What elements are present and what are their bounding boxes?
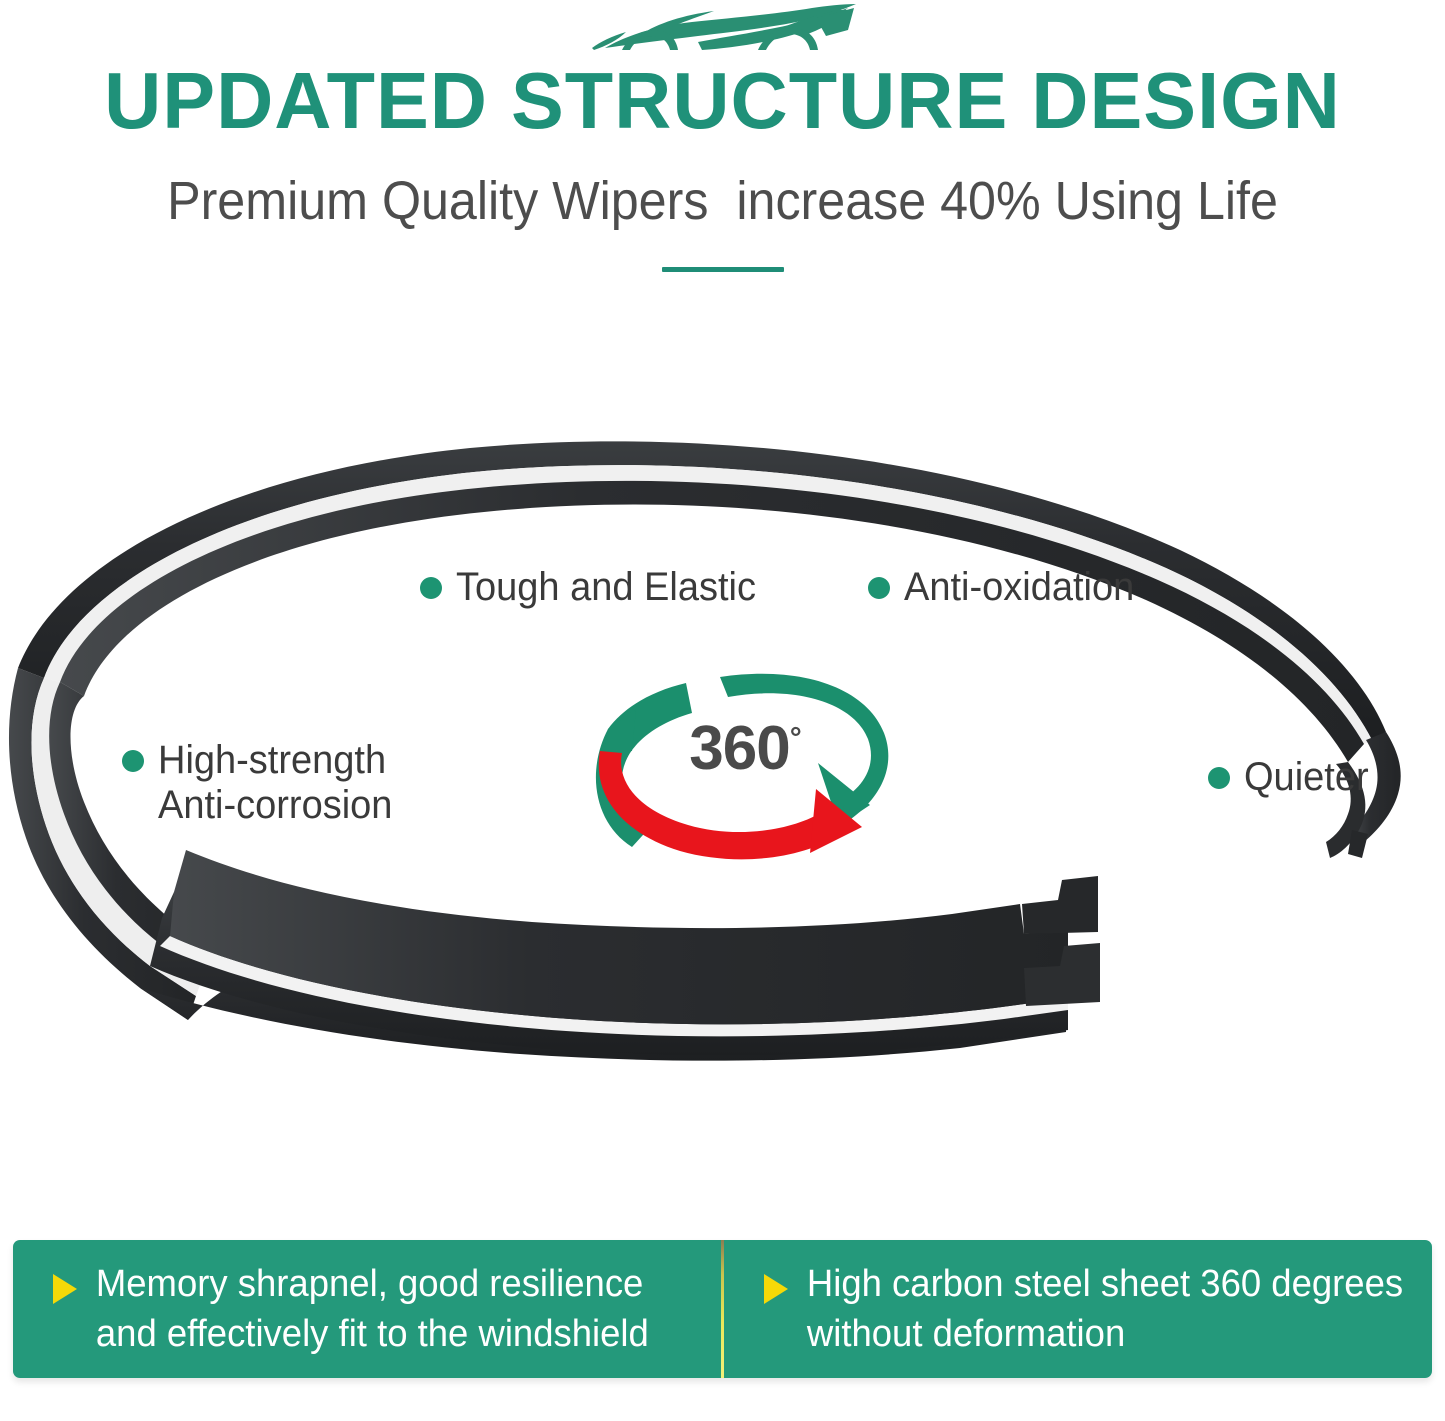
feature-label: High-strength Anti-corrosion <box>158 738 392 828</box>
title-divider-rule <box>662 267 784 272</box>
page-title: UPDATED STRUCTURE DESIGN <box>7 58 1438 144</box>
bullet-dot-icon <box>420 577 442 599</box>
feature-label: Anti-oxidation <box>904 565 1134 610</box>
bullet-dot-icon <box>1208 767 1230 789</box>
banner-memory-shrapnel: Memory shrapnel, good resilience and eff… <box>13 1240 721 1378</box>
badge-360: 360° <box>570 655 920 865</box>
feature-label: Quieter <box>1244 755 1369 800</box>
feature-callout-tough-and-elastic: Tough and Elastic <box>420 565 772 610</box>
page-subtitle: Premium Quality Wipers increase 40% Usin… <box>51 168 1395 234</box>
feature-label: Tough and Elastic <box>456 565 756 610</box>
bottom-banner-group: Memory shrapnel, good resilience and eff… <box>13 1240 1432 1378</box>
bullet-dot-icon <box>868 577 890 599</box>
bullet-dot-icon <box>122 750 144 772</box>
feature-callout-high-strength-anti-corrosion: High-strength Anti-corrosion <box>122 738 405 828</box>
badge-degree-symbol: ° <box>790 721 801 754</box>
banner-high-carbon-steel: High carbon steel sheet 360 degrees with… <box>724 1240 1432 1378</box>
product-infographic-page: UPDATED STRUCTURE DESIGN Premium Quality… <box>0 0 1445 1421</box>
feature-callout-anti-oxidation: Anti-oxidation <box>868 565 1146 610</box>
badge-360-value: 360 <box>689 714 789 783</box>
banner-text: High carbon steel sheet 360 degrees with… <box>780 1259 1403 1359</box>
badge-360-label: 360° <box>570 715 920 783</box>
feature-callout-quieter: Quieter <box>1208 755 1375 800</box>
banner-text: Memory shrapnel, good resilience and eff… <box>69 1259 649 1359</box>
car-silhouette-icon <box>580 2 880 60</box>
